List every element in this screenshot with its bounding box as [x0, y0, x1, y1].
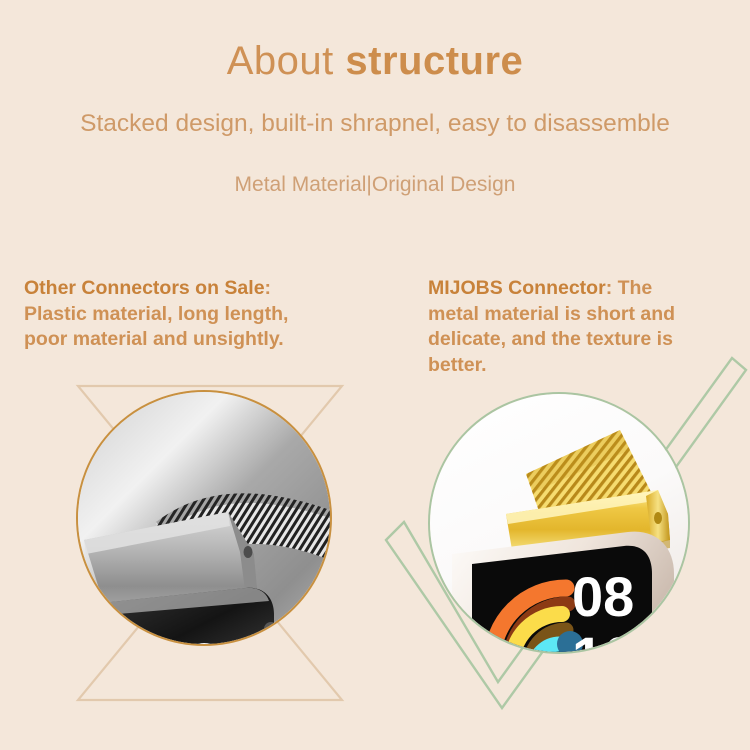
- left-lead-suffix: :: [265, 277, 272, 299]
- left-body-line-1: Plastic material, long length,: [24, 302, 384, 328]
- right-lead-suffix: : The: [606, 277, 653, 299]
- subtitle-primary: Stacked design, built-in shrapnel, easy …: [0, 84, 750, 139]
- right-photo-artwork: 08 16: [430, 394, 688, 652]
- right-body-line-1: metal material is short and: [428, 302, 748, 328]
- right-column-text: MIJOBS Connector: The metal material is …: [428, 276, 748, 378]
- right-product-photo: 08 16: [428, 392, 690, 654]
- header: About structure Stacked design, built-in…: [0, 0, 750, 198]
- left-lead-label: Other Connectors on Sale: [24, 277, 265, 299]
- page-title-light: About: [227, 39, 346, 83]
- right-body-line-2: delicate, and the texture is: [428, 327, 748, 353]
- left-product-photo: 08: [76, 390, 332, 646]
- left-photo-artwork: 08: [78, 392, 330, 644]
- left-watch-time: 08: [156, 632, 221, 644]
- page-title-bold: structure: [345, 39, 523, 83]
- product-infographic: About structure Stacked design, built-in…: [0, 0, 750, 750]
- left-body-line-2: poor material and unsightly.: [24, 327, 384, 353]
- right-watch-minutes: 16: [572, 625, 634, 652]
- right-body-line-3: better.: [428, 353, 748, 379]
- left-column-text: Other Connectors on Sale: Plastic materi…: [24, 276, 384, 353]
- subtitle-secondary: Metal Material|Original Design: [0, 139, 750, 198]
- page-title: About structure: [0, 0, 750, 84]
- right-lead-label: MIJOBS Connector: [428, 277, 606, 299]
- right-watch-hours: 08: [572, 565, 634, 628]
